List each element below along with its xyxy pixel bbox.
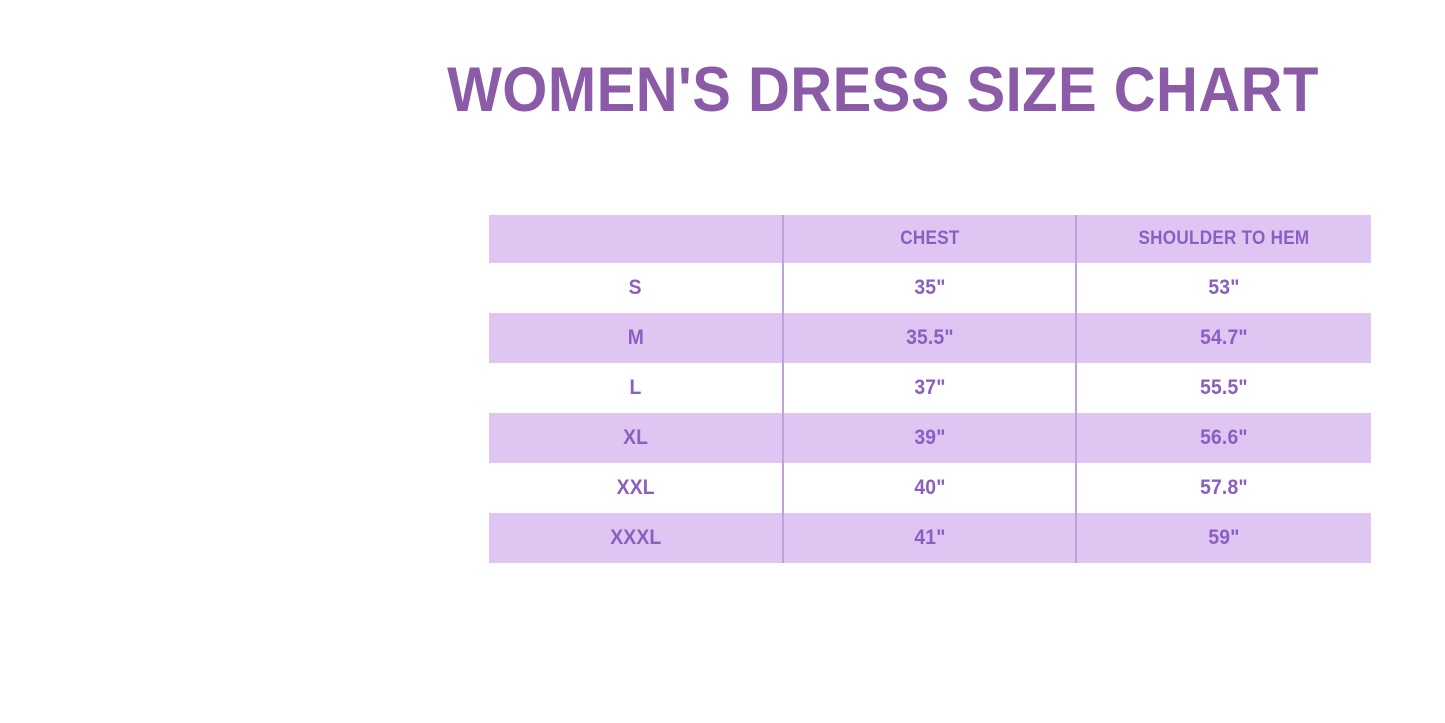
cell-chest: 41"	[783, 513, 1076, 563]
cell-size: M	[489, 313, 783, 363]
table-row: XXXL 41" 59"	[489, 513, 1371, 563]
cell-shoulder-to-hem: 54.7"	[1076, 313, 1371, 363]
header-row: CHEST SHOULDER TO HEM	[489, 215, 1371, 263]
column-header-shoulder-to-hem-label: SHOULDER TO HEM	[1139, 228, 1310, 250]
cell-shoulder-to-hem: 57.8"	[1076, 463, 1371, 513]
shoulder-to-hem-value: 55.5"	[1200, 376, 1248, 400]
shoulder-to-hem-value: 54.7"	[1200, 326, 1248, 350]
cell-shoulder-to-hem: 59"	[1076, 513, 1371, 563]
chest-value: 39"	[914, 426, 945, 450]
table-row: M 35.5" 54.7"	[489, 313, 1371, 363]
size-value: S	[629, 276, 642, 300]
size-value: XXL	[616, 476, 654, 500]
table-row: S 35" 53"	[489, 263, 1371, 313]
cell-chest: 39"	[783, 413, 1076, 463]
table-row: XXL 40" 57.8"	[489, 463, 1371, 513]
shoulder-to-hem-value: 56.6"	[1200, 426, 1248, 450]
cell-shoulder-to-hem: 55.5"	[1076, 363, 1371, 413]
cell-chest: 35.5"	[783, 313, 1076, 363]
size-value: L	[630, 376, 642, 400]
cell-size: S	[489, 263, 783, 313]
table-row: XL 39" 56.6"	[489, 413, 1371, 463]
size-value: XXXL	[610, 526, 661, 550]
column-header-chest: CHEST	[783, 215, 1076, 263]
table-row: L 37" 55.5"	[489, 363, 1371, 413]
column-header-shoulder-to-hem: SHOULDER TO HEM	[1076, 215, 1371, 263]
shoulder-to-hem-value: 59"	[1208, 526, 1239, 550]
cell-size: L	[489, 363, 783, 413]
chest-value: 35.5"	[906, 326, 954, 350]
shoulder-to-hem-value: 57.8"	[1200, 476, 1248, 500]
table-body: S 35" 53" M 35.5" 54.7"	[489, 263, 1371, 563]
cell-size: XXL	[489, 463, 783, 513]
size-chart-table-container: CHEST SHOULDER TO HEM S 35" 53"	[489, 215, 1371, 566]
page-title: WOMEN'S DRESS SIZE CHART	[71, 55, 1445, 126]
chest-value: 40"	[914, 476, 945, 500]
chest-value: 37"	[914, 376, 945, 400]
cell-size: XL	[489, 413, 783, 463]
cell-chest: 37"	[783, 363, 1076, 413]
size-value: M	[627, 326, 643, 350]
cell-size: XXXL	[489, 513, 783, 563]
column-header-chest-label: CHEST	[900, 228, 959, 250]
chest-value: 35"	[914, 276, 945, 300]
cell-shoulder-to-hem: 56.6"	[1076, 413, 1371, 463]
cell-chest: 35"	[783, 263, 1076, 313]
size-value: XL	[623, 426, 648, 450]
chest-value: 41"	[914, 526, 945, 550]
cell-shoulder-to-hem: 53"	[1076, 263, 1371, 313]
size-chart-table: CHEST SHOULDER TO HEM S 35" 53"	[489, 215, 1371, 563]
column-header-size	[489, 215, 783, 263]
table-header: CHEST SHOULDER TO HEM	[489, 215, 1371, 263]
shoulder-to-hem-value: 53"	[1208, 276, 1239, 300]
cell-chest: 40"	[783, 463, 1076, 513]
